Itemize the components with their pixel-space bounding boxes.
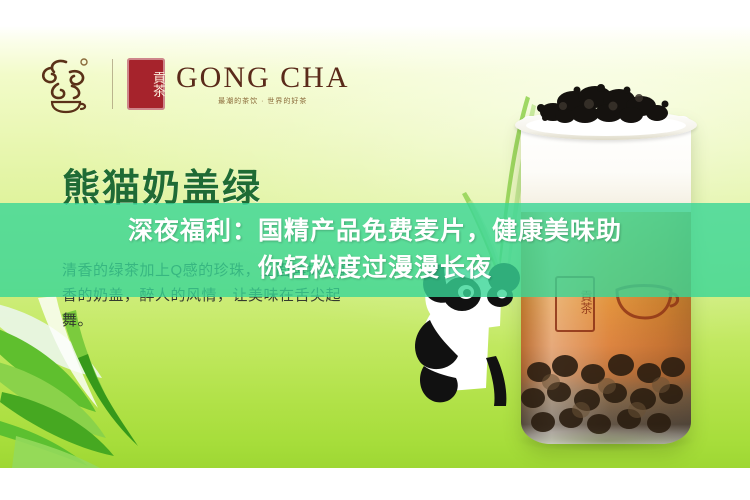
caption-line-2: 你轻松度过漫漫长夜 xyxy=(258,250,492,287)
brand-wordmark: GONG CHA xyxy=(176,63,350,93)
caption-line-1: 深夜福利：国精产品免费麦片，健康美味助 xyxy=(128,213,622,250)
brand-tagline: 最潮的茶饮 · 世界的好茶 xyxy=(176,97,350,106)
cookie-crumb-topping xyxy=(533,82,669,128)
brand-wordmark-wrap: GONG CHA 最潮的茶饮 · 世界的好茶 xyxy=(176,63,350,106)
brand-seal-text: 貢茶 xyxy=(127,62,165,106)
cup-drop-shadow xyxy=(517,430,695,452)
screenshot-root: 貢茶 xyxy=(0,0,750,500)
gong-cha-brand-lockup: 貢茶 GONG CHA 最潮的茶饮 · 世界的好茶 xyxy=(36,52,350,116)
caption-overlay-text: 深夜福利：国精产品免费麦片，健康美味助 你轻松度过漫漫长夜 xyxy=(0,203,750,297)
gong-cha-seal-icon: 貢茶 xyxy=(127,58,165,110)
brand-divider xyxy=(112,59,113,109)
promotional-poster: 貢茶 xyxy=(0,0,750,468)
tea-steam-swirl-icon xyxy=(36,54,98,114)
